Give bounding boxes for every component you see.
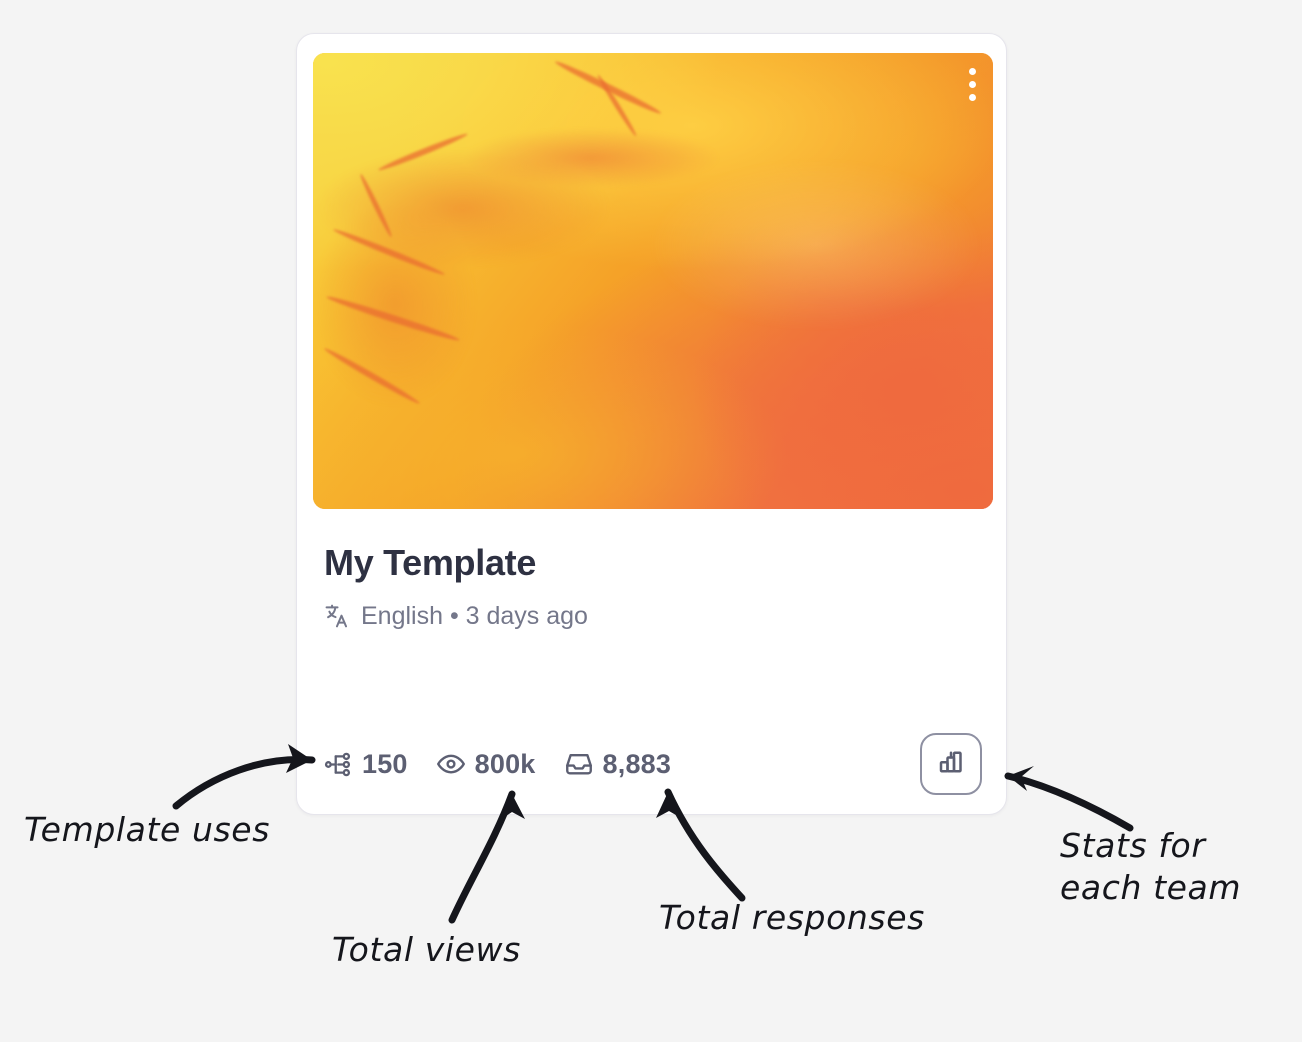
arrowhead-team-stats [1008,766,1034,791]
annotation-template-uses-label: Template uses [24,810,270,849]
stat-value: 150 [362,749,408,780]
stats-group: 150 800k 8,883 [324,749,671,780]
team-stats-button[interactable] [920,733,982,795]
annotation-team-stats-label: Stats for each team [1060,825,1241,909]
menu-dot [969,81,976,88]
arrow-team-stats [1008,776,1130,828]
stat-total-views: 800k [436,749,536,780]
template-meta: English • 3 days ago [324,602,588,630]
stat-value: 800k [475,749,536,780]
menu-dot [969,94,976,101]
template-stats-row: 150 800k 8,883 [324,733,982,795]
inbox-icon [564,749,594,779]
more-vertical-icon[interactable] [958,62,986,106]
annotation-total-views-label: Total views [332,930,521,969]
annotation-team-stats-line1: Stats for [1060,825,1241,867]
arrow-template-uses [176,759,312,806]
stat-template-uses: 150 [324,749,408,780]
share-nodes-icon [324,750,353,779]
annotation-total-responses-label: Total responses [659,898,925,937]
menu-dot [969,68,976,75]
gradient-detail-layer [313,53,993,509]
template-preview-image [313,53,993,509]
bar-chart-icon [936,747,966,782]
template-card[interactable]: My Template English • 3 days ago [296,33,1007,815]
template-meta-text: English • 3 days ago [361,604,588,629]
stat-value: 8,883 [603,749,672,780]
eye-icon [436,749,466,779]
stat-total-responses: 8,883 [564,749,672,780]
translate-icon [324,602,352,630]
annotation-team-stats-line2: each team [1060,867,1241,909]
template-title: My Template [324,542,536,584]
